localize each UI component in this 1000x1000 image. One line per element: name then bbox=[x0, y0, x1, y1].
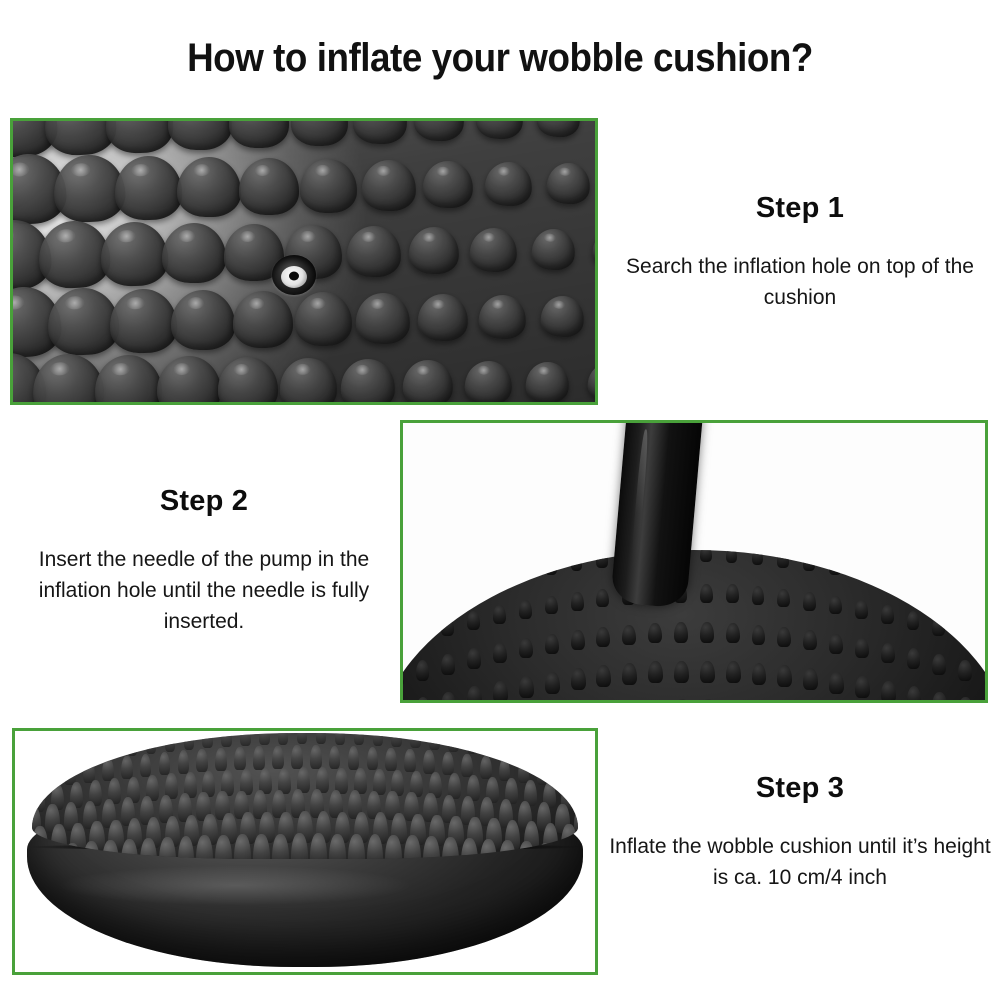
cushion-spike bbox=[441, 550, 452, 557]
cushion-spike bbox=[932, 579, 944, 596]
cushion-spike bbox=[932, 692, 947, 700]
cushion-spike bbox=[777, 665, 792, 687]
step-2-text-block: Step 2 Insert the needle of the pump in … bbox=[18, 485, 390, 637]
cushion-spike bbox=[726, 623, 740, 643]
inflation-valve-pin bbox=[289, 271, 299, 280]
cushion-spike bbox=[429, 733, 439, 749]
cushion-spike bbox=[571, 668, 586, 690]
cushion-spike bbox=[165, 733, 175, 751]
cushion-spike bbox=[958, 623, 971, 642]
cushion-spike bbox=[545, 596, 558, 615]
cushion-spike bbox=[984, 555, 985, 571]
cushion-spike bbox=[493, 567, 505, 584]
step-1-heading: Step 1 bbox=[608, 192, 992, 225]
cushion-spike bbox=[329, 746, 341, 769]
cushion-spike bbox=[543, 742, 553, 763]
cushion-spike bbox=[561, 744, 571, 765]
cushion-spike bbox=[404, 749, 416, 772]
cushion-spike bbox=[958, 660, 972, 680]
cushion-spike bbox=[291, 745, 303, 768]
cushion-spike bbox=[855, 600, 868, 619]
cushion-spike bbox=[297, 733, 307, 744]
cushion-spike bbox=[441, 692, 456, 700]
cushion-spike bbox=[855, 676, 870, 698]
cushion-spike bbox=[545, 557, 557, 574]
cushion-spike bbox=[519, 562, 531, 579]
cushion-spike bbox=[726, 661, 741, 683]
cushion-spike bbox=[674, 661, 689, 683]
cushion-spike bbox=[184, 733, 194, 749]
cushion-spike bbox=[829, 672, 844, 694]
cushion-spike bbox=[519, 676, 534, 698]
cushion-spike bbox=[622, 625, 636, 645]
cushion-spike bbox=[700, 699, 716, 700]
cushion-spike bbox=[596, 665, 611, 687]
cushion-spike bbox=[202, 733, 212, 748]
cushion-spike bbox=[881, 643, 895, 663]
cushion-spike bbox=[700, 550, 712, 562]
cushion-spike bbox=[121, 756, 133, 779]
cushion-spike bbox=[348, 834, 365, 859]
cushion-spike bbox=[752, 550, 764, 565]
cushion-spike bbox=[648, 623, 662, 643]
cushion-spike bbox=[752, 586, 765, 605]
cushion-spike bbox=[752, 625, 766, 645]
cushion-spike bbox=[803, 553, 815, 570]
cushion-spike bbox=[752, 663, 767, 685]
step-2-photo-frame bbox=[400, 420, 988, 703]
cushion-spike bbox=[958, 586, 970, 603]
cushion-spike bbox=[416, 660, 430, 680]
cushion-spike bbox=[159, 752, 171, 775]
cushion-spike bbox=[958, 550, 969, 564]
cushion-spike bbox=[505, 737, 515, 758]
step-3-text-block: Step 3 Inflate the wobble cushion until … bbox=[608, 772, 992, 893]
cushion-spike bbox=[674, 622, 688, 642]
cushion-spike bbox=[272, 746, 284, 769]
cushion-spike bbox=[221, 733, 231, 747]
cushion-disc-top bbox=[32, 733, 577, 858]
cushion-spike bbox=[907, 686, 922, 700]
cushion-spike bbox=[354, 733, 364, 745]
cushion-spike bbox=[596, 550, 608, 567]
cushion-spike bbox=[622, 663, 637, 685]
cushion-spike bbox=[907, 648, 921, 668]
cushion-spike bbox=[410, 733, 420, 748]
cushion-spike bbox=[519, 638, 533, 658]
cushion-spike bbox=[146, 733, 156, 753]
cushion-spike bbox=[537, 733, 546, 740]
cushion-spike bbox=[240, 733, 250, 745]
cushion-spike bbox=[416, 550, 427, 564]
cushion-inflation-hole-photo bbox=[13, 121, 595, 402]
cushion-spike bbox=[391, 733, 401, 747]
cushion-spike bbox=[467, 611, 480, 630]
cushion-spike bbox=[448, 733, 458, 751]
cushion-spike bbox=[178, 750, 190, 773]
page-title: How to inflate your wobble cushion? bbox=[40, 36, 960, 81]
cushion-spike bbox=[442, 752, 454, 775]
cushion-spike bbox=[493, 643, 507, 663]
cushion-spike bbox=[571, 553, 583, 570]
cushion-spike bbox=[777, 627, 791, 647]
cushion-spike bbox=[519, 600, 532, 619]
cushion-spike bbox=[829, 596, 842, 615]
cushion-spike bbox=[881, 567, 893, 584]
cushion-spike bbox=[461, 754, 473, 777]
cushion-spike bbox=[335, 733, 345, 744]
step-3-photo-frame bbox=[12, 728, 598, 975]
cushion-spike bbox=[493, 681, 508, 700]
cushion-spike bbox=[373, 733, 383, 745]
cushion-spike bbox=[423, 750, 435, 773]
cushion-spike bbox=[674, 699, 690, 700]
cushion-spike bbox=[932, 550, 943, 557]
step-2-body: Insert the needle of the pump in the inf… bbox=[18, 544, 390, 637]
cushion-spike bbox=[467, 573, 479, 590]
cushion-spike bbox=[480, 756, 492, 779]
cushion-spike bbox=[574, 767, 577, 790]
cushion-spike bbox=[493, 605, 506, 624]
cushion-highlight bbox=[61, 866, 409, 905]
cushion-spike bbox=[545, 634, 559, 654]
cushion-spike bbox=[829, 557, 841, 574]
cushion-spike bbox=[441, 579, 453, 596]
cushion-spike bbox=[932, 654, 946, 674]
cushion-spike bbox=[64, 733, 73, 740]
cushion-spike bbox=[234, 747, 246, 770]
cushion-spike bbox=[45, 733, 54, 742]
step-3-body: Inflate the wobble cushion until it’s he… bbox=[608, 831, 992, 893]
cushion-spike bbox=[416, 697, 431, 700]
cushion-spike bbox=[829, 634, 843, 654]
cushion-spike bbox=[571, 592, 584, 611]
cushion-spike bbox=[803, 630, 817, 650]
cushion-spike bbox=[907, 611, 920, 630]
cushion-spike bbox=[700, 622, 714, 642]
cushion-spike bbox=[215, 748, 227, 771]
cushion-spike bbox=[310, 745, 322, 768]
cushion-spike bbox=[367, 747, 379, 770]
cushion-spike bbox=[259, 733, 269, 745]
step-2-heading: Step 2 bbox=[18, 485, 390, 518]
cushion-spike bbox=[596, 589, 609, 608]
cushion-spike bbox=[571, 630, 585, 650]
cushion-spike bbox=[51, 744, 61, 765]
cushion-spike bbox=[648, 661, 663, 683]
cushion-spike bbox=[441, 654, 455, 674]
cushion-spike bbox=[70, 742, 80, 763]
cushion-spike bbox=[596, 627, 610, 647]
cushion-spike bbox=[881, 681, 896, 700]
cushion-spike bbox=[348, 746, 360, 769]
cushion-spike bbox=[726, 550, 738, 563]
cushion-spike bbox=[196, 749, 208, 772]
cushion-spike bbox=[555, 733, 564, 742]
step-1-body: Search the inflation hole on top of the … bbox=[608, 251, 992, 313]
cushion-spike bbox=[524, 739, 534, 760]
cushion-spike bbox=[467, 686, 482, 700]
cushion-spike bbox=[32, 747, 42, 768]
inflation-hole-icon bbox=[272, 255, 316, 295]
cushion-spike bbox=[403, 666, 404, 686]
cushion-spike bbox=[467, 648, 481, 668]
cushion-spike bbox=[958, 697, 973, 700]
cushion-spike bbox=[803, 592, 816, 611]
cushion-spike bbox=[310, 833, 327, 858]
cushion-spike bbox=[855, 562, 867, 579]
step-1-photo-frame bbox=[10, 118, 598, 405]
cushion-spike bbox=[316, 733, 326, 744]
pump-needle-inserted-photo bbox=[403, 423, 985, 700]
step-3-heading: Step 3 bbox=[608, 772, 992, 805]
cushion-spike bbox=[777, 550, 789, 567]
cushion-spike bbox=[278, 733, 288, 744]
cushion-spike bbox=[545, 672, 560, 694]
cushion-spike bbox=[855, 638, 869, 658]
cushion-spike bbox=[574, 733, 577, 745]
cushion-spike bbox=[700, 661, 715, 683]
cushion-spike bbox=[803, 668, 818, 690]
cushion-spike bbox=[881, 605, 894, 624]
cushion-spike bbox=[726, 584, 739, 603]
inflated-wobble-cushion-photo bbox=[15, 731, 595, 972]
cushion-spike bbox=[253, 746, 265, 769]
cushion-spike bbox=[700, 584, 713, 603]
cushion-spike bbox=[140, 754, 152, 777]
step-1-text-block: Step 1 Search the inflation hole on top … bbox=[608, 192, 992, 313]
cushion-spike bbox=[385, 748, 397, 771]
cushion-spike bbox=[777, 589, 790, 608]
